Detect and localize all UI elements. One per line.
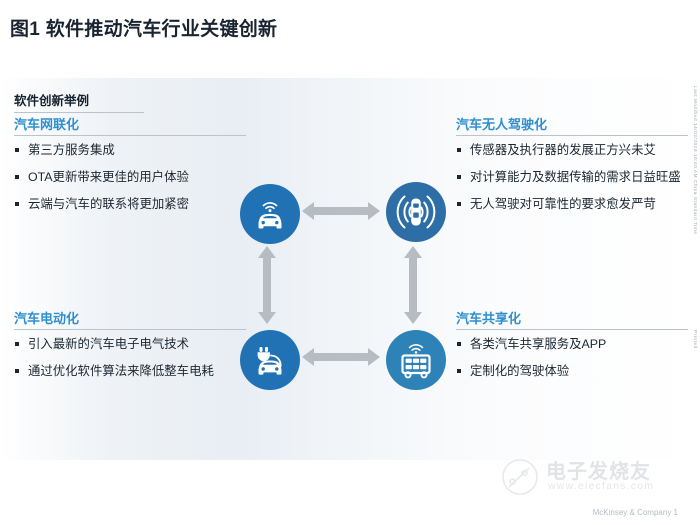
section-kicker-divider — [14, 112, 144, 113]
list-item: 对计算能力及数据传输的需求日益旺盛 — [456, 169, 688, 187]
slide-canvas: 图1 软件推动汽车行业关键创新 软件创新举例 汽车网联化 第三方服务集成 OTA… — [0, 0, 700, 525]
list-item: OTA更新带来更佳的用户体验 — [14, 169, 246, 187]
arrow-top-horizontal — [300, 200, 382, 222]
diagram-node-autonomous-car[interactable] — [386, 182, 446, 242]
shared-car-icon — [386, 330, 446, 390]
quadrant-connected: 汽车网联化 第三方服务集成 OTA更新带来更佳的用户体验 云端与汽车的联系将更加… — [14, 118, 246, 222]
quadrant-bullet-list: 引入最新的汽车电子电气技术 通过优化软件算法来降低整车电耗 — [14, 336, 246, 380]
list-item: 传感器及执行器的发展正方兴未艾 — [456, 142, 688, 160]
autonomous-car-icon — [386, 182, 446, 242]
watermark-url-text: www.elecfans.com — [548, 480, 654, 492]
quadrant-divider — [456, 135, 688, 136]
edge-note-top: Last Modified 14/02/2019 10:40 AM China … — [693, 86, 698, 235]
section-kicker-label: 软件创新举例 — [14, 90, 144, 109]
quadrant-shared: 汽车共享化 各类汽车共享服务及APP 定制化的驾驶体验 — [456, 312, 688, 390]
footer-attribution: McKinsey & Company 1 — [593, 508, 678, 517]
diagram-node-connected-car[interactable] — [240, 184, 300, 244]
list-item: 引入最新的汽车电子电气技术 — [14, 336, 246, 354]
quadrant-autonomous: 汽车无人驾驶化 传感器及执行器的发展正方兴未艾 对计算能力及数据传输的需求日益旺… — [456, 118, 688, 222]
arrow-left-vertical — [256, 244, 278, 326]
list-item: 云端与汽车的联系将更加紧密 — [14, 196, 246, 214]
quadrant-electric: 汽车电动化 引入最新的汽车电子电气技术 通过优化软件算法来降低整车电耗 — [14, 312, 246, 390]
page-title: 图1 软件推动汽车行业关键创新 — [10, 14, 277, 41]
edge-note-bottom: Printed — [693, 330, 698, 349]
watermark-logo-icon — [500, 457, 540, 497]
quadrant-heading: 汽车网联化 — [14, 118, 246, 132]
list-item: 定制化的驾驶体验 — [456, 363, 688, 381]
quadrant-heading: 汽车共享化 — [456, 312, 688, 326]
section-kicker: 软件创新举例 — [14, 90, 144, 113]
quadrant-bullet-list: 传感器及执行器的发展正方兴未艾 对计算能力及数据传输的需求日益旺盛 无人驾驶对可… — [456, 142, 688, 213]
connected-car-icon — [240, 184, 300, 244]
list-item: 第三方服务集成 — [14, 142, 246, 160]
quadrant-bullet-list: 第三方服务集成 OTA更新带来更佳的用户体验 云端与汽车的联系将更加紧密 — [14, 142, 246, 213]
quadrant-divider — [14, 329, 246, 330]
arrow-bottom-horizontal — [300, 346, 382, 368]
quadrant-divider — [14, 135, 246, 136]
quadrant-heading: 汽车无人驾驶化 — [456, 118, 688, 132]
central-diagram — [236, 180, 466, 402]
quadrant-bullet-list: 各类汽车共享服务及APP 定制化的驾驶体验 — [456, 336, 688, 380]
arrow-right-vertical — [402, 244, 424, 326]
list-item: 无人驾驶对可靠性的要求愈发严苛 — [456, 196, 688, 214]
list-item: 通过优化软件算法来降低整车电耗 — [14, 363, 246, 381]
electric-car-icon — [240, 330, 300, 390]
quadrant-heading: 汽车电动化 — [14, 312, 246, 326]
diagram-node-shared-car[interactable] — [386, 330, 446, 390]
list-item: 各类汽车共享服务及APP — [456, 336, 688, 354]
diagram-node-electric-car[interactable] — [240, 330, 300, 390]
quadrant-divider — [456, 329, 688, 330]
